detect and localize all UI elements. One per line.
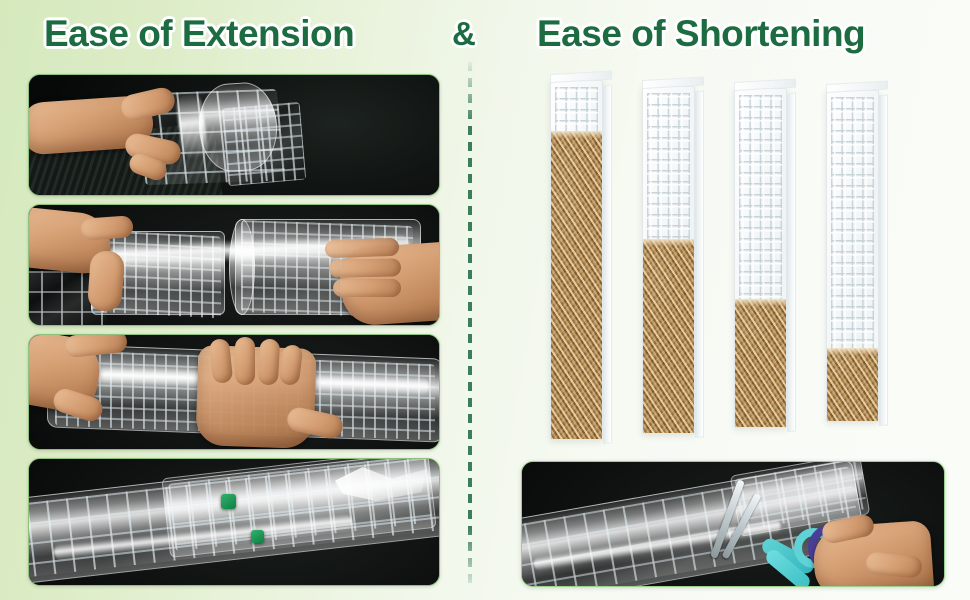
finger-right-2 bbox=[235, 337, 255, 385]
photo-hands-pressing-extended-tube bbox=[28, 334, 440, 450]
photo-scissors-cutting-tube bbox=[521, 461, 945, 587]
finger-right-3 bbox=[258, 339, 280, 386]
tube-open-end bbox=[229, 219, 255, 315]
vertical-dashed-divider bbox=[468, 62, 472, 590]
photo-closeup-grid-tube-green-markers bbox=[28, 458, 440, 586]
finger-left-thumb bbox=[87, 250, 125, 312]
tube-1 bbox=[550, 80, 612, 440]
tube-4-side-wall bbox=[879, 94, 888, 426]
right-panel-shortening bbox=[520, 68, 950, 458]
tube-2-face bbox=[642, 86, 695, 434]
finger-right-2 bbox=[329, 258, 401, 277]
tube-3-coir-fill bbox=[735, 299, 786, 427]
tube-4 bbox=[826, 90, 888, 422]
title-separator-ampersand: & bbox=[452, 15, 475, 53]
tube-2-side-wall bbox=[695, 90, 704, 438]
finger-left-index bbox=[80, 215, 133, 241]
finger-right-3 bbox=[333, 279, 401, 297]
left-panel-extension bbox=[28, 74, 440, 586]
photo-two-hands-joining-tube-sections bbox=[28, 204, 440, 326]
tube-1-side-wall bbox=[603, 84, 612, 444]
mesh-grid-detail bbox=[222, 102, 307, 187]
page-title-left: Ease of Extension bbox=[44, 13, 354, 55]
header: Ease of Extension & Ease of Shortening bbox=[0, 0, 970, 66]
green-marker-lower bbox=[251, 530, 264, 543]
green-marker-upper bbox=[221, 494, 236, 509]
tube-4-coir-fill bbox=[827, 348, 878, 421]
tube-2-coir-fill bbox=[643, 239, 694, 433]
finger-right-1 bbox=[325, 238, 400, 259]
infographic-root: Ease of Extension & Ease of Shortening bbox=[0, 0, 970, 600]
tube-4-face bbox=[826, 90, 879, 422]
photo-hand-rolling-mesh-tube bbox=[28, 74, 440, 196]
tube-3-side-wall bbox=[787, 92, 796, 432]
tube-3-face bbox=[734, 88, 787, 428]
tube-1-coir-fill bbox=[551, 131, 602, 439]
page-title-right: Ease of Shortening bbox=[537, 13, 865, 55]
tube-1-face bbox=[550, 80, 603, 440]
tube-3 bbox=[734, 88, 796, 428]
tube-2 bbox=[642, 86, 704, 434]
